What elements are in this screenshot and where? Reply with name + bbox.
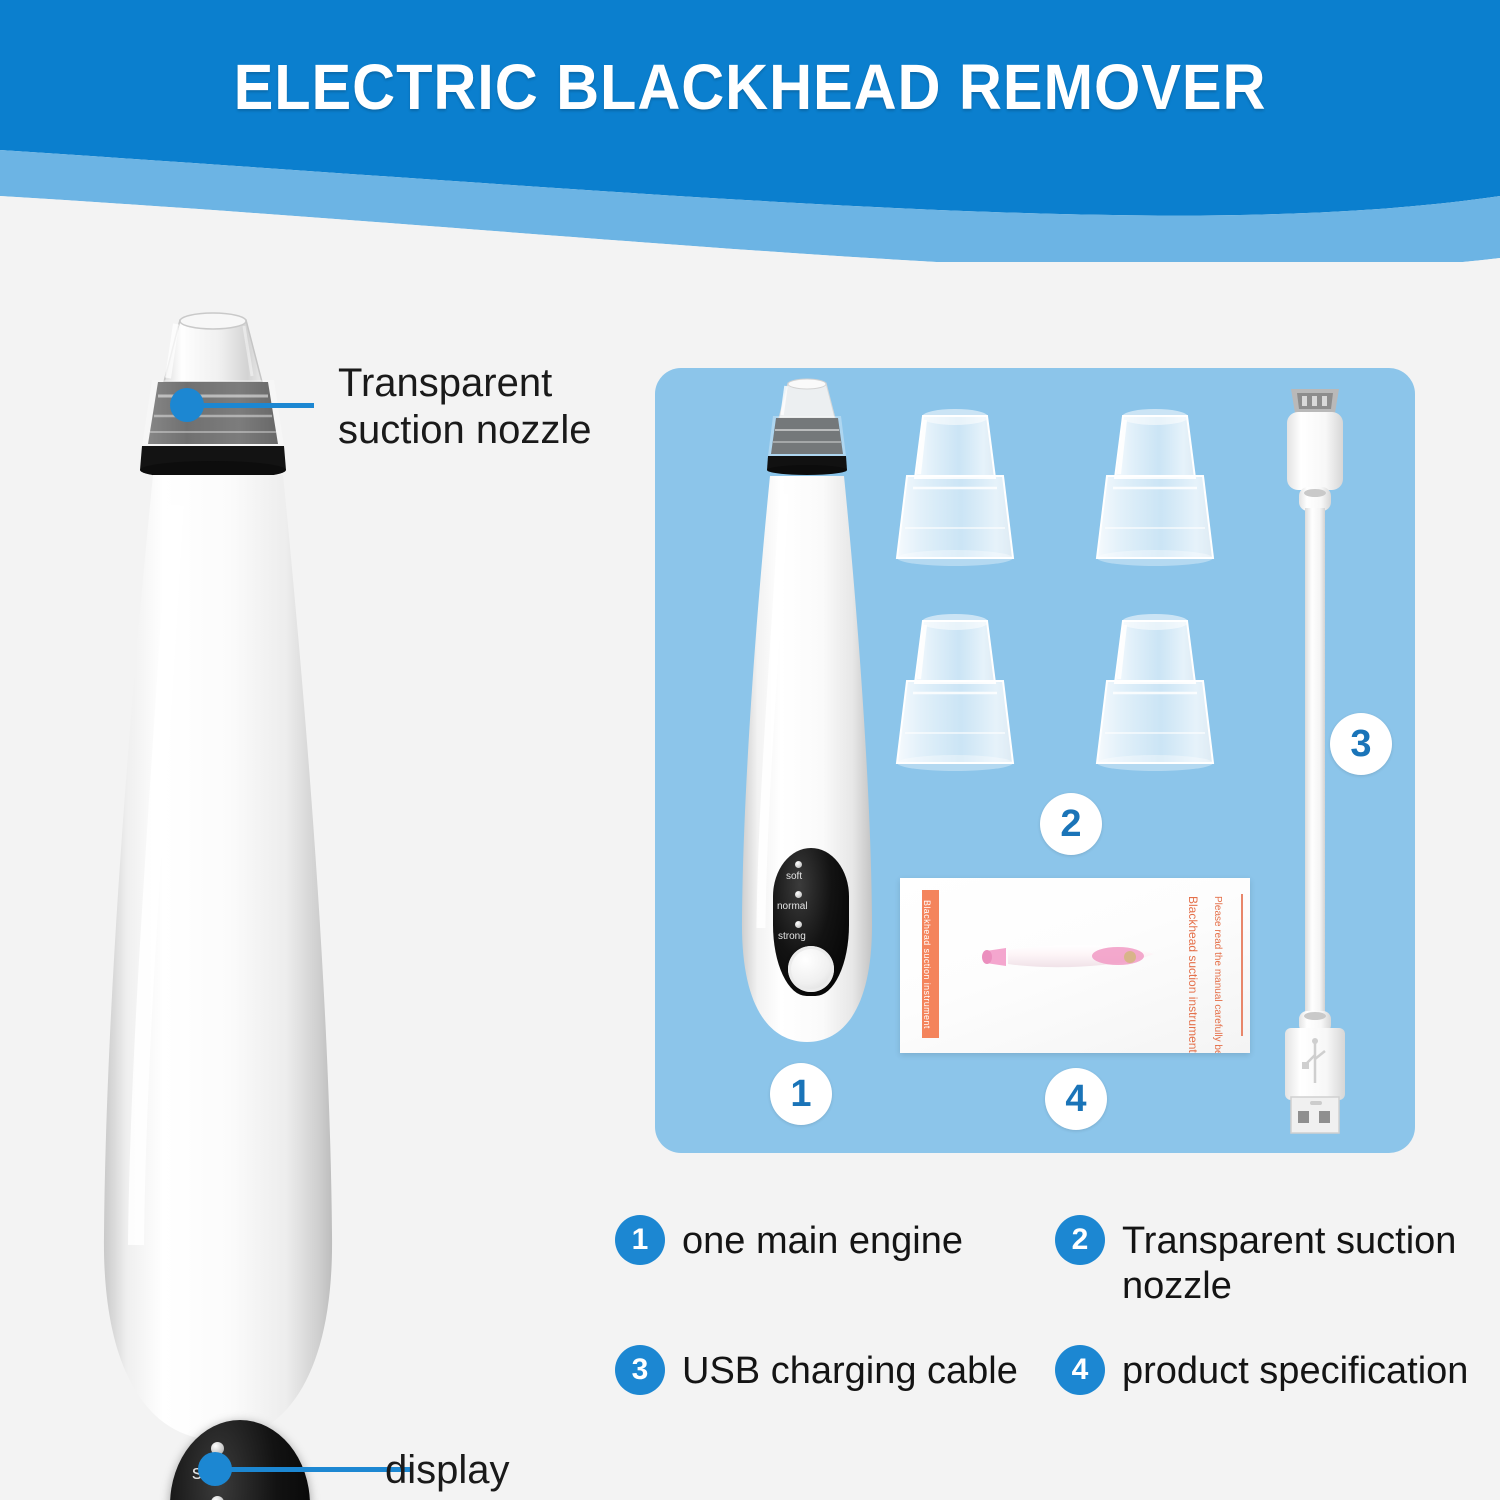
kit-legend: 1 one main engine 2 Transparent suction …	[615, 1215, 1495, 1435]
legend-label-1: one main engine	[682, 1215, 963, 1264]
badge-3: 3	[1330, 713, 1392, 775]
badge-4: 4	[1045, 1068, 1107, 1130]
nozzle-caps-group	[885, 408, 1235, 788]
header-wave-shape	[0, 0, 1500, 262]
callout-nozzle-line1: Transparent	[338, 360, 591, 407]
legend-badge-2: 2	[1055, 1215, 1105, 1265]
legend-item-1: 1 one main engine	[615, 1215, 1035, 1265]
legend-item-4: 4 product specification	[1055, 1345, 1495, 1395]
kit-led-soft	[795, 861, 802, 868]
kit-contents-panel: soft normal strong 1	[655, 368, 1415, 1153]
kit-label-strong: strong	[778, 931, 806, 942]
kit-display-panel: soft normal strong	[773, 848, 849, 996]
page-title: ELECTRIC BLACKHEAD REMOVER	[53, 50, 1448, 124]
manual-note-text: Please read the manual carefully before …	[1212, 896, 1223, 1053]
legend-label-3: USB charging cable	[682, 1345, 1018, 1394]
kit-label-soft: soft	[786, 871, 802, 882]
legend-badge-1: 1	[615, 1215, 665, 1265]
main-device-illustration: soft normal strong	[70, 300, 400, 1460]
legend-item-2: 2 Transparent suction nozzle	[1055, 1215, 1495, 1309]
manual-product-image	[978, 938, 1163, 980]
kit-main-engine: soft normal strong	[725, 378, 900, 1058]
legend-item-3: 3 USB charging cable	[615, 1345, 1035, 1395]
kit-led-strong	[795, 921, 802, 928]
badge-2: 2	[1040, 793, 1102, 855]
legend-badge-3: 3	[615, 1345, 665, 1395]
kit-power-button[interactable]	[788, 946, 834, 992]
product-specification-sheet: Blackhead suction instrument Blackhead s…	[900, 878, 1250, 1053]
callout-line-display	[224, 1467, 412, 1472]
manual-divider	[1241, 894, 1243, 1036]
led-normal	[211, 1496, 224, 1500]
kit-label-normal: normal	[777, 901, 808, 912]
callout-display-line1: display	[385, 1447, 510, 1494]
infographic-page: ELECTRIC BLACKHEAD REMOVER	[0, 0, 1500, 1500]
header-banner: ELECTRIC BLACKHEAD REMOVER	[0, 0, 1500, 260]
transparent-suction-nozzle-icon	[118, 312, 308, 492]
callout-line-nozzle	[196, 403, 314, 408]
callout-label-display: display	[385, 1447, 510, 1494]
callout-label-nozzle: Transparent suction nozzle	[338, 360, 591, 454]
legend-label-2: Transparent suction nozzle	[1122, 1215, 1495, 1309]
device-body	[80, 475, 355, 1455]
badge-1: 1	[770, 1063, 832, 1125]
manual-title-text: Blackhead suction instrument	[1186, 896, 1200, 1053]
legend-label-4: product specification	[1122, 1345, 1468, 1394]
callout-nozzle-line2: suction nozzle	[338, 407, 591, 454]
nozzle-cap-4	[1085, 613, 1225, 778]
kit-led-normal	[795, 891, 802, 898]
nozzle-cap-2	[1085, 408, 1225, 573]
kit-nozzle-icon	[753, 378, 861, 483]
nozzle-cap-3	[885, 613, 1025, 778]
legend-badge-4: 4	[1055, 1345, 1105, 1395]
manual-side-text: Blackhead suction instrument	[922, 900, 932, 1029]
nozzle-cap-1	[885, 408, 1025, 573]
